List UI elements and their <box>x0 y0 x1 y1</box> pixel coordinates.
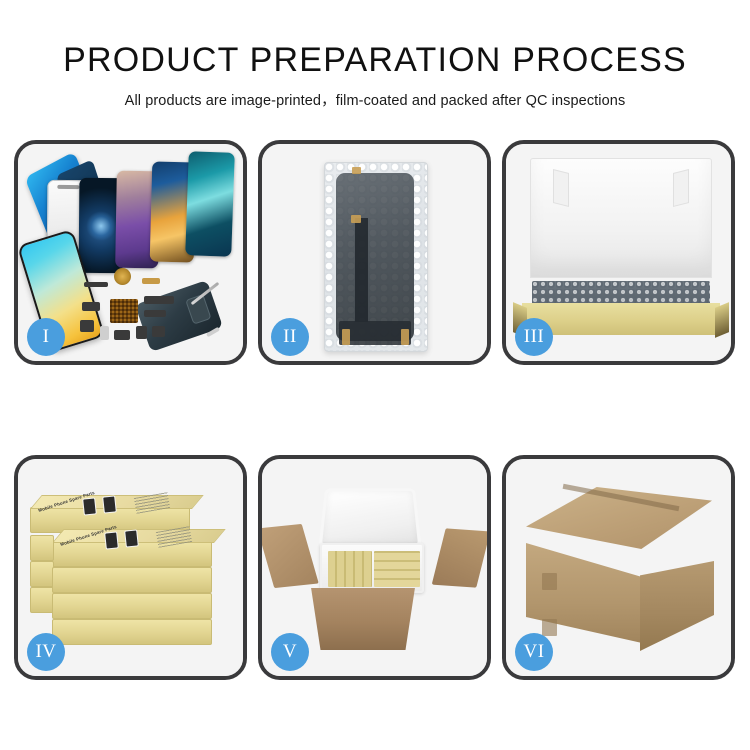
stacked-box <box>52 619 212 645</box>
lcd-screen-part <box>336 173 414 341</box>
process-step-1: I <box>14 140 247 365</box>
yellow-boxes-vertical <box>374 551 420 587</box>
lid-flap-right <box>673 169 689 207</box>
carton-tape-lower <box>542 619 557 636</box>
process-step-4: Mobile Phone Spare Parts Mobile Phone Sp… <box>14 455 247 680</box>
white-box-lid <box>530 158 712 278</box>
box-label-chip-a <box>82 497 97 515</box>
step-badge-3: III <box>515 318 553 356</box>
stacked-box-edge <box>30 587 54 613</box>
carton-flap-left <box>262 524 319 588</box>
component-gold-flex <box>142 278 160 284</box>
process-step-2: II <box>258 140 491 365</box>
stacked-box <box>52 593 212 619</box>
step-badge-5: V <box>271 633 309 671</box>
step-badge-6: VI <box>515 633 553 671</box>
component-button <box>136 326 147 339</box>
component-ribbon-2 <box>144 310 166 317</box>
process-step-3: III <box>502 140 735 365</box>
lid-flap-left <box>553 169 569 207</box>
tape-bottom-left <box>342 329 350 345</box>
foam-box-lid <box>318 488 421 547</box>
step-badge-2: II <box>271 318 309 356</box>
tape-middle <box>351 215 361 223</box>
bubble-wrap-bag <box>324 162 428 352</box>
component-chip <box>82 302 100 311</box>
component-module <box>152 326 165 337</box>
stacked-box <box>52 567 212 593</box>
page-subtitle: All products are image-printed，film-coat… <box>0 89 750 110</box>
component-ic-array <box>110 299 138 323</box>
component-camera <box>114 330 130 340</box>
component-connector <box>84 282 108 287</box>
component-ribbon <box>144 296 174 304</box>
component-bracket <box>80 320 94 332</box>
stacked-box: Mobile Phone Spare Parts <box>52 541 212 567</box>
phone-teal <box>185 151 235 257</box>
stacked-box-edge <box>30 535 54 561</box>
carton-side-face <box>640 561 714 651</box>
shipping-carton <box>304 588 422 650</box>
page-title: PRODUCT PREPARATION PROCESS <box>0 41 750 80</box>
box-label-chip-b <box>102 495 117 513</box>
process-step-5: V <box>258 455 491 680</box>
component-speaker <box>100 326 109 340</box>
process-step-grid: I II <box>14 140 736 680</box>
box-label-chip-a <box>104 531 119 549</box>
tape-bottom-right <box>401 329 409 345</box>
stacked-box-edge <box>30 561 54 587</box>
step-badge-4: IV <box>27 633 65 671</box>
step-badge-1: I <box>27 318 65 356</box>
box-label-chip-b <box>124 529 139 547</box>
flex-cable <box>355 218 368 322</box>
box-stack: Mobile Phone Spare Parts Mobile Phone Sp… <box>28 483 238 661</box>
carton-flap-right <box>432 528 487 587</box>
yellow-boxes-horizontal <box>328 551 372 587</box>
process-step-6: VI <box>502 455 735 680</box>
header: PRODUCT PREPARATION PROCESS All products… <box>0 0 750 110</box>
carton-tape-upper <box>542 573 557 590</box>
tape-top <box>352 167 361 174</box>
component-coil <box>114 268 131 285</box>
product-preparation-infographic: PRODUCT PREPARATION PROCESS All products… <box>0 0 750 750</box>
